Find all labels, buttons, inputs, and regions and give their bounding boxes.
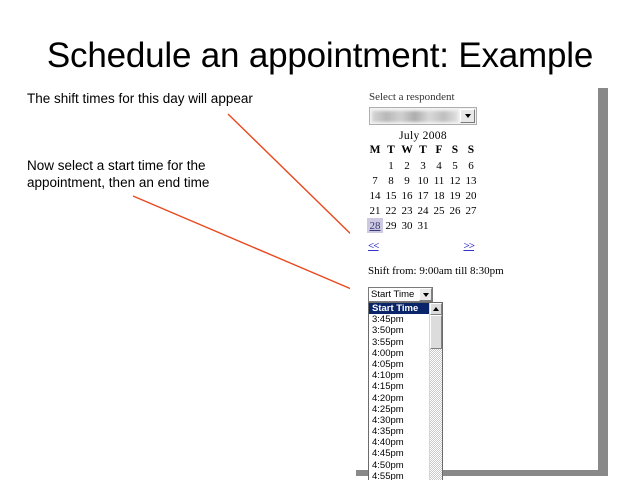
list-item[interactable]: 3:50pm [369,325,430,336]
calendar-weekday-thu: T [415,144,431,158]
calendar-day[interactable]: 8 [383,173,399,188]
calendar-day[interactable]: 18 [431,188,447,203]
calendar-weekday-tue: T [383,144,399,158]
calendar-table: M T W T F S S 1 2 3 4 [367,144,479,233]
calendar-day[interactable]: 17 [415,188,431,203]
calendar-day[interactable]: 13 [463,173,479,188]
list-item[interactable]: 4:25pm [369,404,430,415]
respondent-label: Select a respondent [369,91,455,103]
calendar-day[interactable]: 7 [367,173,383,188]
list-item[interactable]: 4:40pm [369,437,430,448]
list-item-selected[interactable]: Start Time [369,303,430,314]
respondent-selected-value-redacted [372,111,458,122]
page-title: Schedule an appointment: Example [0,36,640,76]
list-item[interactable]: 3:45pm [369,314,430,325]
calendar-day[interactable]: 20 [463,188,479,203]
calendar-day[interactable]: 23 [399,203,415,218]
callout-text-shift-times: The shift times for this day will appear [27,90,257,107]
calendar-prev-month-link[interactable]: << [368,240,379,252]
calendar-day[interactable]: 25 [431,203,447,218]
calendar-row: 28 29 30 31 [367,218,479,233]
calendar-day[interactable]: 19 [447,188,463,203]
calendar-day[interactable]: 2 [399,158,415,173]
calendar-month-label: July 2008 [367,130,479,142]
caret-up-icon[interactable] [430,303,442,315]
list-item[interactable]: 4:55pm [369,471,430,480]
calendar-day[interactable]: 31 [415,218,431,233]
calendar-day-selected[interactable]: 28 [367,218,383,233]
caret-down-icon[interactable] [460,109,475,123]
list-item[interactable]: 3:55pm [369,337,430,348]
calendar-day[interactable]: 4 [431,158,447,173]
calendar-next-month-link[interactable]: >> [463,240,474,252]
calendar-day [463,218,479,233]
calendar-header-row: M T W T F S S [367,144,479,158]
calendar-day[interactable]: 29 [383,218,399,233]
panel-shadow-right [598,88,608,476]
calendar-row: 7 8 9 10 11 12 13 [367,173,479,188]
list-item[interactable]: 4:20pm [369,393,430,404]
calendar-body: 1 2 3 4 5 6 7 8 9 10 11 12 13 [367,158,479,233]
calendar-widget: July 2008 M T W T F S S [367,130,479,233]
scrollbar-thumb[interactable] [430,315,442,349]
start-time-select-value: Start Time [371,289,414,300]
calendar-day[interactable]: 26 [447,203,463,218]
start-time-listbox-open[interactable]: Start Time 3:45pm 3:50pm 3:55pm 4:00pm 4… [368,302,443,480]
list-item[interactable]: 4:15pm [369,381,430,392]
callout-text-select-start-time: Now select a start time for the appointm… [27,157,259,191]
list-item[interactable]: 4:45pm [369,448,430,459]
arrow-to-start-time-dropdown [133,196,363,294]
list-item[interactable]: 4:30pm [369,415,430,426]
calendar-day [447,218,463,233]
list-item[interactable]: 4:35pm [369,426,430,437]
calendar-weekday-mon: M [367,144,383,158]
calendar-day[interactable]: 5 [447,158,463,173]
listbox-scrollbar[interactable] [429,303,442,480]
calendar-day[interactable]: 24 [415,203,431,218]
list-item[interactable]: 4:00pm [369,348,430,359]
start-time-select-closed[interactable]: Start Time [368,287,433,302]
calendar-weekday-sat: S [447,144,463,158]
calendar-day[interactable]: 14 [367,188,383,203]
calendar-day[interactable]: 11 [431,173,447,188]
shift-hours-text: Shift from: 9:00am till 8:30pm [368,265,504,277]
calendar-row: 1 2 3 4 5 6 [367,158,479,173]
calendar-day[interactable]: 3 [415,158,431,173]
calendar-day[interactable]: 6 [463,158,479,173]
caret-down-icon[interactable] [419,288,432,301]
start-time-options: Start Time 3:45pm 3:50pm 3:55pm 4:00pm 4… [369,303,430,480]
slide-canvas: Schedule an appointment: Example The shi… [0,0,640,480]
calendar-weekday-fri: F [431,144,447,158]
calendar-day[interactable]: 15 [383,188,399,203]
list-item[interactable]: 4:50pm [369,460,430,471]
calendar-day[interactable]: 12 [447,173,463,188]
calendar-row: 21 22 23 24 25 26 27 [367,203,479,218]
calendar-day[interactable]: 30 [399,218,415,233]
web-page-screenshot-panel: Select a respondent July 2008 M T W T F … [350,82,598,470]
list-item[interactable]: 4:05pm [369,359,430,370]
calendar-day[interactable]: 16 [399,188,415,203]
calendar-day[interactable]: 27 [463,203,479,218]
list-item[interactable]: 4:10pm [369,370,430,381]
calendar-weekday-sun: S [463,144,479,158]
calendar-day [367,158,383,173]
calendar-nav: << >> [368,240,474,252]
calendar-day[interactable]: 22 [383,203,399,218]
calendar-day[interactable]: 9 [399,173,415,188]
respondent-select[interactable] [369,107,477,125]
calendar-row: 14 15 16 17 18 19 20 [367,188,479,203]
calendar-weekday-wed: W [399,144,415,158]
calendar-day [431,218,447,233]
calendar-day[interactable]: 1 [383,158,399,173]
calendar-day[interactable]: 10 [415,173,431,188]
calendar-day[interactable]: 21 [367,203,383,218]
